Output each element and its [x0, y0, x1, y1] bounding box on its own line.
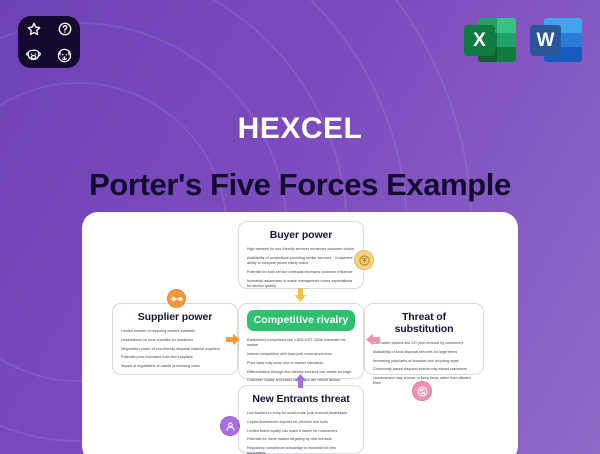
list-item: Price wars may occur due to market satur…	[247, 361, 355, 366]
person-badge	[220, 416, 240, 436]
office-icons: X W	[464, 16, 582, 64]
word-icon[interactable]: W	[530, 16, 582, 64]
tools-badge	[167, 289, 186, 308]
threat-of-substitution-title: Threat of substitution	[373, 311, 475, 335]
force-box-buyer-power[interactable]: Buyer power High demand for eco-friendly…	[238, 221, 364, 289]
list-item: Established competitors like 1-800-GOT-J…	[247, 338, 355, 348]
excel-letter: X	[464, 25, 495, 56]
arrow-up-newentrants-to-rivalry	[294, 374, 307, 393]
list-item: Capital investment required for vehicles…	[247, 420, 355, 425]
list-item: Limited brand loyalty can make it easier…	[247, 429, 355, 434]
excel-icon[interactable]: X	[464, 16, 516, 64]
list-item: High demand for eco-friendly services en…	[247, 247, 355, 252]
list-item: Potential for bulk service contracts inc…	[247, 270, 355, 275]
force-box-threat-of-substitution[interactable]: Threat of substitution Alternative optio…	[364, 303, 484, 375]
dog-face-icon	[55, 46, 75, 65]
cow-face-icon	[24, 46, 44, 65]
question-mark-icon	[55, 20, 75, 39]
list-item: Potential price increases from fuel supp…	[121, 355, 229, 360]
list-item: Increasing popularity of donation and re…	[373, 359, 475, 364]
list-item: Negotiation power of eco-friendly dispos…	[121, 347, 229, 352]
new-entrants-threat-title: New Entrants threat	[247, 393, 355, 405]
arrow-right-supplier-to-rivalry	[226, 333, 240, 351]
list-item: Low barriers to entry for small-scale ju…	[247, 411, 355, 416]
threat-of-substitution-bullets: Alternative options like DIY junk remova…	[373, 341, 475, 387]
list-item: Community-based disposal events may attr…	[373, 367, 475, 372]
poster-canvas: X W HEXCEL Porter's Five Forces Example …	[0, 0, 600, 454]
force-box-competitive-rivalry[interactable]: Competitive rivalry Established competit…	[238, 303, 364, 379]
force-box-supplier-power[interactable]: Supplier power Limited number of recycli…	[112, 303, 238, 375]
new-entrants-threat-bullets: Low barriers to entry for small-scale ju…	[247, 411, 355, 454]
recycle-badge	[412, 381, 432, 401]
page-title: Porter's Five Forces Example	[0, 167, 600, 203]
list-item: Intense competition with local junk remo…	[247, 352, 355, 357]
arrow-down-buyer-to-rivalry	[294, 288, 307, 307]
list-item: Dependence on local charities for donati…	[121, 338, 229, 343]
brand-name: HEXCEL	[0, 112, 600, 146]
list-item: Alternative options like DIY junk remova…	[373, 341, 475, 346]
list-item: Limited number of recycling centers avai…	[121, 329, 229, 334]
list-item: Potential for niche market targeting by …	[247, 437, 355, 442]
supplier-power-title: Supplier power	[121, 311, 229, 323]
force-box-new-entrants-threat[interactable]: New Entrants threat Low barriers to entr…	[238, 385, 364, 454]
list-item: Availability of competitors providing si…	[247, 256, 355, 266]
buyer-power-bullets: High demand for eco-friendly services en…	[247, 247, 355, 289]
arrow-left-substitution-to-rivalry	[366, 333, 380, 351]
buyer-power-title: Buyer power	[247, 229, 355, 241]
list-item: Impact of regulations on waste processin…	[121, 364, 229, 369]
star-icon	[24, 20, 44, 39]
competitive-rivalry-title: Competitive rivalry	[247, 310, 355, 331]
list-item: Regulatory compliance knowledge is essen…	[247, 446, 355, 454]
coin-badge	[354, 250, 374, 270]
hexcel-logo[interactable]	[18, 16, 80, 68]
supplier-power-bullets: Limited number of recycling centers avai…	[121, 329, 229, 369]
word-letter: W	[530, 25, 561, 56]
list-item: Availability of local disposal services …	[373, 350, 475, 355]
